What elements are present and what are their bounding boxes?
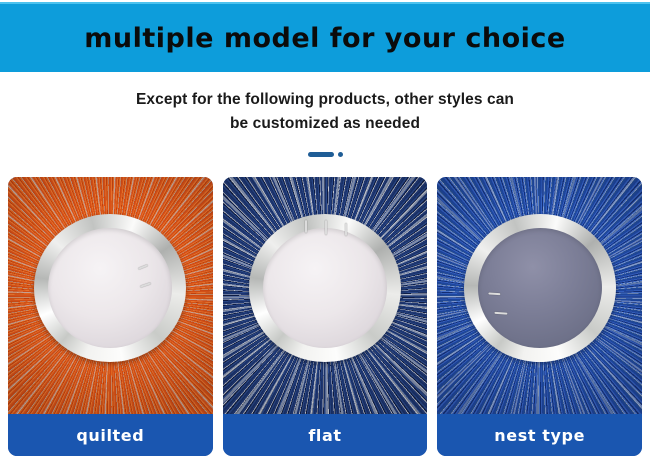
product-card-list: quilted flat (8, 177, 642, 456)
product-photo-quilted (8, 177, 213, 414)
card-caption-label: quilted (76, 426, 144, 445)
brush-hub-plate (472, 222, 608, 354)
product-showcase-page: multiple model for your choice Except fo… (0, 0, 650, 464)
subtitle-line-2: be customized as needed (0, 112, 650, 136)
subtitle-line-1: Except for the following products, other… (0, 88, 650, 112)
product-card-quilted[interactable]: quilted (8, 177, 213, 456)
product-photo-nest-type (437, 177, 642, 414)
brush-hub-ring (249, 214, 401, 362)
product-card-nest-type[interactable]: nest type (437, 177, 642, 456)
divider-dot-icon (338, 152, 343, 157)
banner-title: multiple model for your choice (84, 23, 566, 54)
card-caption-label: nest type (494, 426, 585, 445)
card-caption-bar: quilted (8, 414, 213, 456)
product-card-flat[interactable]: flat (223, 177, 428, 456)
card-caption-bar: flat (223, 414, 428, 456)
brush-hub-ring (34, 214, 186, 362)
card-caption-label: flat (308, 426, 341, 445)
divider-bar-icon (308, 152, 334, 157)
hub-pin-icon (345, 223, 347, 236)
brush-hub-plate (48, 228, 172, 348)
hub-pin-icon (305, 220, 307, 233)
header-banner: multiple model for your choice (0, 2, 650, 72)
hub-pin-icon (325, 220, 327, 235)
product-photo-flat (223, 177, 428, 414)
card-caption-bar: nest type (437, 414, 642, 456)
section-divider (0, 152, 650, 157)
brush-hub-plate (263, 228, 387, 348)
subtitle-block: Except for the following products, other… (0, 88, 650, 136)
